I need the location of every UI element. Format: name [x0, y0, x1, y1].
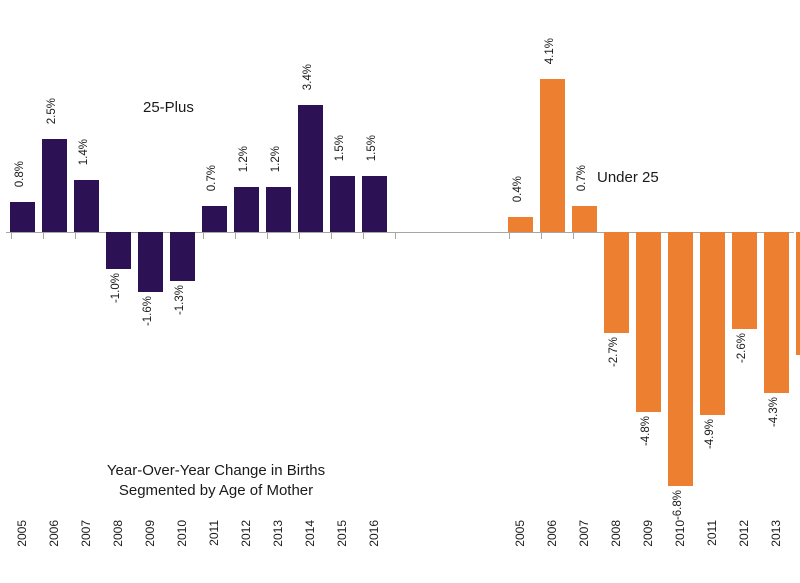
bar[interactable] [796, 232, 800, 355]
bar[interactable] [540, 79, 565, 232]
bar-value-label: -1.6% [143, 296, 155, 326]
axis-tick [299, 232, 300, 239]
chart-canvas: 0.8%2.5%1.4%-1.0%-1.6%-1.3%0.7%1.2%1.2%3… [0, 0, 800, 583]
bar[interactable] [42, 139, 67, 233]
bar-value-label: 1.5% [367, 135, 379, 161]
category-label: 2015 [336, 520, 348, 547]
axis-tick [11, 232, 12, 239]
axis-tick [235, 232, 236, 239]
bar[interactable] [170, 232, 195, 281]
bar[interactable] [74, 180, 99, 232]
category-label: 2006 [546, 520, 558, 547]
bar-value-label: 1.5% [335, 135, 347, 161]
category-label: 2013 [272, 520, 284, 547]
category-label: 2006 [48, 520, 60, 547]
category-label: 2011 [208, 520, 220, 546]
category-label: 2009 [642, 520, 654, 547]
category-label: 2012 [240, 520, 252, 547]
bar-value-label: 0.7% [577, 165, 589, 191]
bar[interactable] [298, 105, 323, 232]
bar[interactable] [138, 232, 163, 292]
bar[interactable] [668, 232, 693, 486]
category-label: 2007 [578, 520, 590, 547]
bar[interactable] [10, 202, 35, 232]
category-label: 2008 [112, 520, 124, 547]
bar[interactable] [234, 187, 259, 232]
axis-tick [573, 232, 574, 239]
category-label: 2005 [514, 520, 526, 547]
bar-value-label: 3.4% [303, 64, 315, 90]
category-label: 2013 [770, 520, 782, 547]
axis-tick [509, 232, 510, 239]
bar-value-label: 0.4% [513, 176, 525, 202]
bar-value-label: 1.2% [239, 146, 251, 172]
category-label: 2016 [368, 520, 380, 547]
bar[interactable] [266, 187, 291, 232]
bar-value-label: -1.3% [175, 285, 187, 315]
category-label: 2011 [706, 520, 718, 546]
category-label: 2010 [674, 520, 686, 547]
category-label: 2012 [738, 520, 750, 547]
bar-value-label: 1.4% [79, 139, 91, 165]
category-label: 2010 [176, 520, 188, 547]
bar[interactable] [330, 176, 355, 232]
bar-value-label: -4.8% [641, 416, 653, 446]
category-label: 2014 [304, 520, 316, 547]
bar-value-label: 0.8% [15, 161, 27, 187]
bar[interactable] [572, 206, 597, 232]
bar[interactable] [732, 232, 757, 329]
bar[interactable] [106, 232, 131, 269]
bar-value-label: 0.7% [207, 165, 219, 191]
axis-tick [541, 232, 542, 239]
axis-tick [363, 232, 364, 239]
bar[interactable] [700, 232, 725, 415]
bar-value-label: -4.3% [769, 397, 781, 427]
bar-value-label: 1.2% [271, 146, 283, 172]
series-label-under-25: Under 25 [597, 169, 659, 186]
axis-tick [331, 232, 332, 239]
bar[interactable] [202, 206, 227, 232]
bar-value-label: -2.7% [609, 337, 621, 367]
axis-tick [75, 232, 76, 239]
bar[interactable] [636, 232, 661, 412]
axis-tick [203, 232, 204, 239]
bar-value-label: -2.6% [737, 333, 749, 363]
chart-title-line-2: Segmented by Age of Mother [0, 481, 432, 500]
category-label: 2008 [610, 520, 622, 547]
series-label-25-plus: 25-Plus [143, 99, 194, 116]
axis-tick [43, 232, 44, 239]
category-label: 2007 [80, 520, 92, 547]
chart-title-line-1: Year-Over-Year Change in Births [0, 461, 432, 480]
axis-tick [395, 232, 396, 239]
bar[interactable] [362, 176, 387, 232]
plot-area: 0.8%2.5%1.4%-1.0%-1.6%-1.3%0.7%1.2%1.2%3… [0, 0, 800, 583]
bar[interactable] [604, 232, 629, 333]
bar-value-label: 2.5% [47, 98, 59, 124]
bar-value-label: -4.9% [705, 419, 717, 449]
axis-tick [267, 232, 268, 239]
bar-value-label: -6.8% [673, 490, 685, 520]
bar[interactable] [508, 217, 533, 232]
category-label: 2005 [16, 520, 28, 547]
category-label: 2009 [144, 520, 156, 547]
bar-value-label: -1.0% [111, 273, 123, 303]
bar[interactable] [764, 232, 789, 393]
bar-value-label: 4.1% [545, 38, 557, 64]
